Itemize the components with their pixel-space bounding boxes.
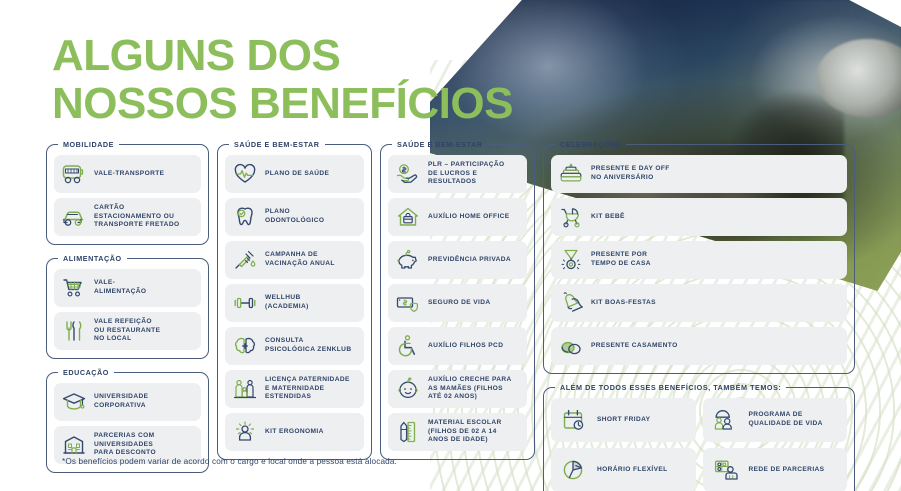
- footnote: *Os benefícios podem variar de acordo co…: [62, 457, 397, 466]
- bus-icon: [59, 160, 89, 188]
- benefit-item[interactable]: PLANO ODONTOLÓGICO: [225, 198, 364, 236]
- benefit-item-label: PLANO DE SAÚDE: [265, 170, 329, 179]
- calendar-clock-icon: [556, 403, 592, 437]
- benefit-item-label: PARCERIAS COM UNIVERSIDADES PARA DESCONT…: [94, 432, 156, 458]
- benefit-group-alimentacao: ALIMENTAÇÃOVALE- ALIMENTAÇÃOVALE REFEIÇÃ…: [46, 254, 209, 359]
- group-title-saude-bem-estar-2: SAÚDE E BEM-ESTAR: [392, 140, 488, 149]
- baby-icon: [393, 375, 423, 403]
- benefit-group-mobilidade: MOBILIDADEVALE-TRANSPORTECARTÃO ESTACION…: [46, 140, 209, 245]
- benefit-item[interactable]: MATERIAL ESCOLAR (FILHOS DE 02 A 14 ANOS…: [388, 413, 527, 451]
- shopping-cart-icon: [59, 274, 89, 302]
- ruler-pencil-icon: [393, 418, 423, 446]
- home-office-icon: [393, 203, 423, 231]
- cutlery-icon: [59, 317, 89, 345]
- benefit-item[interactable]: WELLHUB (ACADEMIA): [225, 284, 364, 322]
- bells-icon: [556, 289, 586, 317]
- benefit-item[interactable]: VALE-TRANSPORTE: [54, 155, 201, 193]
- benefit-item[interactable]: PREVIDÊNCIA PRIVADA: [388, 241, 527, 279]
- benefit-item[interactable]: KIT BOAS-FESTAS: [551, 284, 847, 322]
- benefit-item[interactable]: PLANO DE SAÚDE: [225, 155, 364, 193]
- benefit-items: PLANO DE SAÚDEPLANO ODONTOLÓGICOCAMPANHA…: [225, 155, 364, 451]
- group-title-mobilidade: MOBILIDADE: [58, 140, 119, 149]
- column-1: MOBILIDADEVALE-TRANSPORTECARTÃO ESTACION…: [46, 140, 209, 473]
- benefit-item-label: REDE DE PARCERIAS: [749, 466, 825, 475]
- benefit-items: VALE- ALIMENTAÇÃOVALE REFEIÇÃO OU RESTAU…: [54, 269, 201, 350]
- benefit-group-alem-de-todos: ALÉM DE TODOS ESSES BENEFÍCIOS, TAMBÉM T…: [543, 383, 855, 491]
- benefit-item-label: PLR – PARTICIPAÇÃO DE LUCROS E RESULTADO…: [428, 161, 505, 187]
- benefit-item-label: VALE- ALIMENTAÇÃO: [94, 279, 146, 296]
- group-title-saude-bem-estar-1: SAÚDE E BEM-ESTAR: [229, 140, 325, 149]
- benefit-columns: MOBILIDADEVALE-TRANSPORTECARTÃO ESTACION…: [46, 140, 858, 491]
- benefit-item[interactable]: AUXÍLIO CRECHE PARA AS MAMÃES (FILHOS AT…: [388, 370, 527, 408]
- benefit-item-label: PLANO ODONTOLÓGICO: [265, 208, 324, 225]
- benefit-item-label: HORÁRIO FLEXÍVEL: [597, 466, 668, 475]
- benefit-item[interactable]: UNIVERSIDADE CORPORATIVA: [54, 383, 201, 421]
- benefit-item-label: WELLHUB (ACADEMIA): [265, 294, 309, 311]
- column-4: CELEBRAÇÕESPRESENTE E DAY OFF NO ANIVERS…: [543, 140, 855, 491]
- wheelchair-icon: [393, 332, 423, 360]
- piggy-bank-icon: [393, 246, 423, 274]
- benefit-item-label: PRESENTE POR TEMPO DE CASA: [591, 251, 651, 268]
- people-group-icon: [708, 403, 744, 437]
- benefit-item[interactable]: KIT BEBÊ: [551, 198, 847, 236]
- benefit-items: VALE-TRANSPORTECARTÃO ESTACIONAMENTO OU …: [54, 155, 201, 236]
- benefit-item[interactable]: PROGRAMA DE QUALIDADE DE VIDA: [703, 398, 848, 442]
- benefit-item-label: VALE REFEIÇÃO OU RESTAURANTE NO LOCAL: [94, 318, 160, 344]
- benefit-item[interactable]: LICENÇA PATERNIDADE E MATERNIDADE ESTEND…: [225, 370, 364, 408]
- benefit-item-label: PRESENTE E DAY OFF NO ANIVERSÁRIO: [591, 165, 670, 182]
- benefit-item-label: VALE-TRANSPORTE: [94, 170, 164, 179]
- group-title-educacao: EDUCAÇÃO: [58, 368, 114, 377]
- benefit-item[interactable]: PLR – PARTICIPAÇÃO DE LUCROS E RESULTADO…: [388, 155, 527, 193]
- benefit-item[interactable]: PRESENTE CASAMENTO: [551, 327, 847, 365]
- benefit-item[interactable]: REDE DE PARCERIAS: [703, 448, 848, 491]
- benefit-group-saude-bem-estar-1: SAÚDE E BEM-ESTARPLANO DE SAÚDEPLANO ODO…: [217, 140, 372, 460]
- benefit-group-saude-bem-estar-2: SAÚDE E BEM-ESTARPLR – PARTICIPAÇÃO DE L…: [380, 140, 535, 460]
- benefit-item-label: KIT BEBÊ: [591, 213, 625, 222]
- benefit-items: PLR – PARTICIPAÇÃO DE LUCROS E RESULTADO…: [388, 155, 527, 451]
- graduation-cap-icon: [59, 388, 89, 416]
- benefit-item-label: CAMPANHA DE VACINAÇÃO ANUAL: [265, 251, 335, 268]
- benefit-item-label: LICENÇA PATERNIDADE E MATERNIDADE ESTEND…: [265, 376, 350, 402]
- medal-icon: [556, 246, 586, 274]
- benefit-item-label: CARTÃO ESTACIONAMENTO OU TRANSPORTE FRET…: [94, 204, 179, 230]
- page-title: ALGUNS DOS NOSSOS BENEFÍCIOS: [52, 32, 513, 128]
- benefit-item[interactable]: VALE REFEIÇÃO OU RESTAURANTE NO LOCAL: [54, 312, 201, 350]
- benefit-items: PRESENTE E DAY OFF NO ANIVERSÁRIOKIT BEB…: [551, 155, 847, 365]
- benefit-item-label: KIT BOAS-FESTAS: [591, 299, 656, 308]
- benefit-item[interactable]: CONSULTA PSICOLÓGICA ZENKLUB: [225, 327, 364, 365]
- benefit-item-label: SEGURO DE VIDA: [428, 299, 490, 308]
- column-3: SAÚDE E BEM-ESTARPLR – PARTICIPAÇÃO DE L…: [380, 140, 535, 460]
- benefit-item-label: AUXÍLIO HOME OFFICE: [428, 213, 510, 222]
- group-title-alem-de-todos: ALÉM DE TODOS ESSES BENEFÍCIOS, TAMBÉM T…: [555, 383, 786, 392]
- university-building-icon: [59, 431, 89, 459]
- benefit-item[interactable]: VALE- ALIMENTAÇÃO: [54, 269, 201, 307]
- banknote-shield-icon: [393, 289, 423, 317]
- heart-pulse-icon: [230, 160, 260, 188]
- benefit-item-label: KIT ERGONOMIA: [265, 428, 324, 437]
- birthday-cake-icon: [556, 160, 586, 188]
- wedding-rings-icon: [556, 332, 586, 360]
- car-icon: [59, 203, 89, 231]
- benefit-group-celebracoes: CELEBRAÇÕESPRESENTE E DAY OFF NO ANIVERS…: [543, 140, 855, 374]
- benefit-item[interactable]: AUXÍLIO FILHOS PCD: [388, 327, 527, 365]
- column-2: SAÚDE E BEM-ESTARPLANO DE SAÚDEPLANO ODO…: [217, 140, 372, 460]
- group-title-alimentacao: ALIMENTAÇÃO: [58, 254, 127, 263]
- benefit-item[interactable]: SHORT FRIDAY: [551, 398, 696, 442]
- benefit-item-label: AUXÍLIO FILHOS PCD: [428, 342, 503, 351]
- family-icon: [230, 375, 260, 403]
- stroller-icon: [556, 203, 586, 231]
- group-title-celebracoes: CELEBRAÇÕES: [555, 140, 626, 149]
- benefit-item-label: PRESENTE CASAMENTO: [591, 342, 678, 351]
- dumbbell-icon: [230, 289, 260, 317]
- brain-icon: [230, 332, 260, 360]
- benefits-infographic-page: ALGUNS DOS NOSSOS BENEFÍCIOS MOBILIDADEV…: [0, 0, 901, 491]
- benefit-items: SHORT FRIDAYPROGRAMA DE QUALIDADE DE VID…: [551, 398, 847, 491]
- tooth-icon: [230, 203, 260, 231]
- benefit-item[interactable]: HORÁRIO FLEXÍVEL: [551, 448, 696, 491]
- network-people-icon: [708, 453, 744, 487]
- ergonomics-person-icon: [230, 418, 260, 446]
- benefit-item-label: PROGRAMA DE QUALIDADE DE VIDA: [749, 411, 823, 428]
- benefit-item-label: UNIVERSIDADE CORPORATIVA: [94, 393, 148, 410]
- benefit-item-label: AUXÍLIO CRECHE PARA AS MAMÃES (FILHOS AT…: [428, 376, 512, 402]
- pie-clock-icon: [556, 453, 592, 487]
- benefit-item[interactable]: CAMPANHA DE VACINAÇÃO ANUAL: [225, 241, 364, 279]
- benefit-item[interactable]: SEGURO DE VIDA: [388, 284, 527, 322]
- syringe-icon: [230, 246, 260, 274]
- benefit-item[interactable]: CARTÃO ESTACIONAMENTO OU TRANSPORTE FRET…: [54, 198, 201, 236]
- benefit-item-label: MATERIAL ESCOLAR (FILHOS DE 02 A 14 ANOS…: [428, 419, 502, 445]
- benefit-item[interactable]: PRESENTE POR TEMPO DE CASA: [551, 241, 847, 279]
- benefit-item-label: SHORT FRIDAY: [597, 416, 650, 425]
- benefit-item[interactable]: PRESENTE E DAY OFF NO ANIVERSÁRIO: [551, 155, 847, 193]
- benefit-items: UNIVERSIDADE CORPORATIVAPARCERIAS COM UN…: [54, 383, 201, 464]
- benefit-item-label: PREVIDÊNCIA PRIVADA: [428, 256, 511, 265]
- benefit-item[interactable]: KIT ERGONOMIA: [225, 413, 364, 451]
- benefit-item[interactable]: AUXÍLIO HOME OFFICE: [388, 198, 527, 236]
- benefit-item-label: CONSULTA PSICOLÓGICA ZENKLUB: [265, 337, 351, 354]
- hand-coin-icon: [393, 160, 423, 188]
